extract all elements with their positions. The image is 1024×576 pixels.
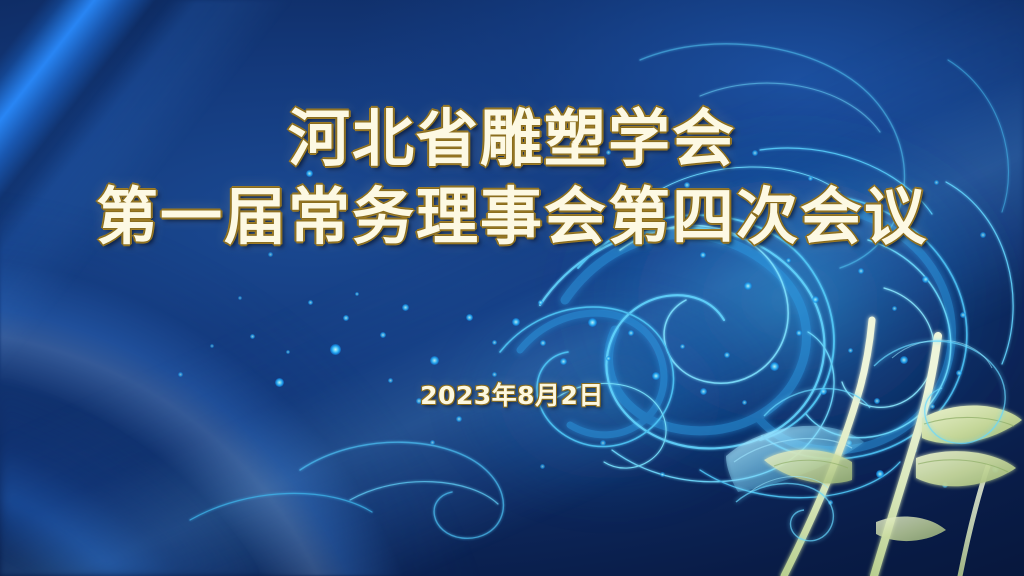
title-block: 河北省雕塑学会 第一届常务理事会第四次会议	[0, 108, 1024, 248]
plant-decoration	[724, 296, 1024, 576]
background-wave-glow	[0, 0, 1024, 576]
background-wave-bottom-left	[0, 0, 1024, 576]
background-ribbon-secondary	[0, 0, 1024, 576]
background-diagonal-sheen	[0, 0, 1024, 576]
bokeh-dots	[0, 0, 1024, 576]
background-ribbon-top-left	[0, 0, 1024, 576]
title-line-2: 第一届常务理事会第四次会议	[0, 186, 1024, 248]
background-oval-glow	[0, 0, 1024, 576]
background-base-gradient	[0, 0, 1024, 576]
meeting-date: 2023年8月2日	[0, 376, 1024, 412]
swirl-decoration	[0, 0, 1024, 576]
title-slide: 河北省雕塑学会 第一届常务理事会第四次会议 2023年8月2日	[0, 0, 1024, 576]
title-line-1: 河北省雕塑学会	[0, 108, 1024, 170]
